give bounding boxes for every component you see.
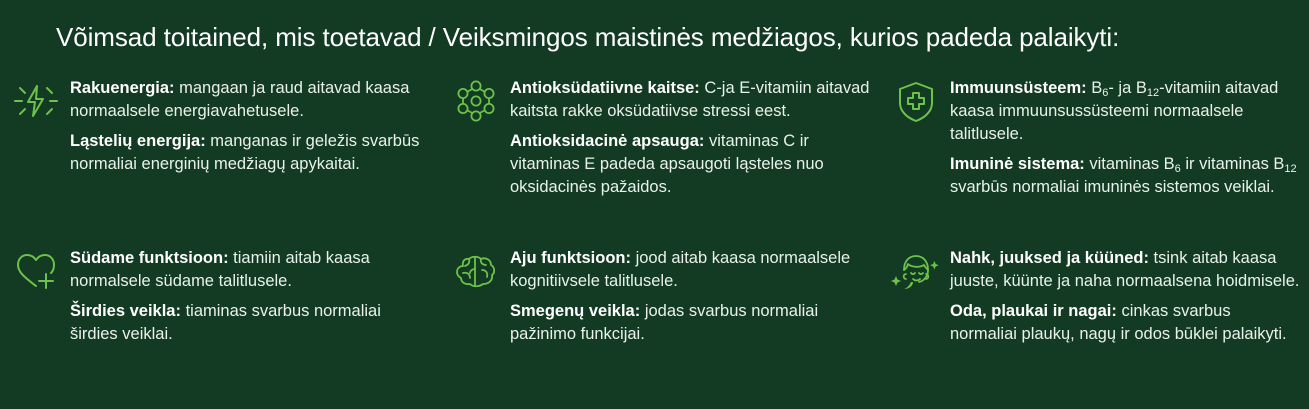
page-title: Võimsad toitained, mis toetavad / Veiksm… xyxy=(0,0,1309,53)
benefit-label-et: Rakuenergia: xyxy=(70,79,175,97)
vitamin-b12-subscript-et: 12 xyxy=(1147,87,1159,99)
benefit-paragraph-et: Antioksüdatiivne kaitse: C-ja E-vitamiin… xyxy=(510,77,880,123)
benefit-paragraph-lt: Imuninė sistema: vitaminas B6 ir vitamin… xyxy=(950,153,1302,199)
benefit-text-group: Aju funktsioon: jood aitab kaasa normaal… xyxy=(502,244,880,346)
benefit-paragraph-lt: Ląstelių energija: manganas ir geležis s… xyxy=(70,130,430,176)
benefit-paragraph-et: Immuunsüsteem: B6- ja B12-vitamiin aitav… xyxy=(950,77,1302,146)
benefit-label-et: Südame funktsioon: xyxy=(70,249,229,267)
benefit-label-et: Immuunsüsteem: xyxy=(950,79,1087,97)
benefit-paragraph-et: Rakuenergia: mangaan ja raud aitavad kaa… xyxy=(70,77,430,123)
benefit-text-group: Rakuenergia: mangaan ja raud aitavad kaa… xyxy=(62,74,430,176)
lightning-bolt-icon xyxy=(10,76,62,128)
benefits-grid: Rakuenergia: mangaan ja raud aitavad kaa… xyxy=(0,74,1309,346)
benefit-body-lt-pre: vitaminas B xyxy=(1085,155,1175,173)
benefit-label-lt: Širdies veikla: xyxy=(70,302,181,320)
benefit-body-lt-mid: ir vitaminas B xyxy=(1181,155,1285,173)
benefit-item-brain-function: Aju funktsioon: jood aitab kaasa normaal… xyxy=(440,244,880,346)
benefit-body-lt-post: svarbūs normaliai imuninės sistemos veik… xyxy=(950,178,1275,196)
benefit-paragraph-lt: Oda, plaukai ir nagai: cinkas svarbus no… xyxy=(950,300,1302,346)
benefit-item-immune-system: Immuunsüsteem: B6- ja B12-vitamiin aitav… xyxy=(880,74,1309,244)
benefit-paragraph-et: Aju funktsioon: jood aitab kaasa normaal… xyxy=(510,247,880,293)
benefit-item-antioxidant-protection: Antioksüdatiivne kaitse: C-ja E-vitamiin… xyxy=(440,74,880,244)
benefit-body-et-mid: - ja B xyxy=(1108,79,1147,97)
benefit-paragraph-lt: Širdies veikla: tiaminas svarbus normali… xyxy=(70,300,430,346)
benefit-label-lt: Imuninė sistema: xyxy=(950,155,1085,173)
benefit-text-group: Südame funktsioon: tiamiin aitab kaasa n… xyxy=(62,244,430,346)
brain-icon xyxy=(450,246,502,298)
nutrient-benefits-panel: Võimsad toitained, mis toetavad / Veiksm… xyxy=(0,0,1309,409)
benefit-label-et: Nahk, juuksed ja küüned: xyxy=(950,249,1149,267)
benefit-paragraph-lt: Smegenų veikla: jodas svarbus normaliai … xyxy=(510,300,880,346)
vitamin-b6-subscript-lt: 6 xyxy=(1175,163,1181,175)
benefit-label-et: Antioksüdatiivne kaitse: xyxy=(510,79,700,97)
shield-cross-icon xyxy=(890,76,942,128)
benefit-text-group: Nahk, juuksed ja küüned: tsink aitab kaa… xyxy=(942,244,1302,346)
vitamin-b12-subscript-lt: 12 xyxy=(1284,163,1296,175)
face-sparkle-icon xyxy=(890,246,942,298)
benefit-text-group: Immuunsüsteem: B6- ja B12-vitamiin aitav… xyxy=(942,74,1302,199)
benefit-paragraph-lt: Antioksidacinė apsauga: vitaminas C ir v… xyxy=(510,130,880,199)
heart-plus-icon xyxy=(10,246,62,298)
benefit-label-lt: Smegenų veikla: xyxy=(510,302,640,320)
benefit-label-lt: Ląstelių energija: xyxy=(70,132,206,150)
molecule-icon xyxy=(450,76,502,128)
benefit-label-lt: Antioksidacinė apsauga: xyxy=(510,132,704,150)
benefit-paragraph-et: Südame funktsioon: tiamiin aitab kaasa n… xyxy=(70,247,430,293)
vitamin-b6-subscript-et: 6 xyxy=(1102,87,1108,99)
benefit-body-et-pre: B xyxy=(1087,79,1103,97)
benefit-item-skin-hair-nails: Nahk, juuksed ja küüned: tsink aitab kaa… xyxy=(880,244,1309,346)
benefit-item-cellular-energy: Rakuenergia: mangaan ja raud aitavad kaa… xyxy=(0,74,440,244)
benefit-label-et: Aju funktsioon: xyxy=(510,249,631,267)
benefit-item-heart-function: Südame funktsioon: tiamiin aitab kaasa n… xyxy=(0,244,440,346)
benefit-paragraph-et: Nahk, juuksed ja küüned: tsink aitab kaa… xyxy=(950,247,1302,293)
benefit-label-lt: Oda, plaukai ir nagai: xyxy=(950,302,1117,320)
benefit-text-group: Antioksüdatiivne kaitse: C-ja E-vitamiin… xyxy=(502,74,880,199)
